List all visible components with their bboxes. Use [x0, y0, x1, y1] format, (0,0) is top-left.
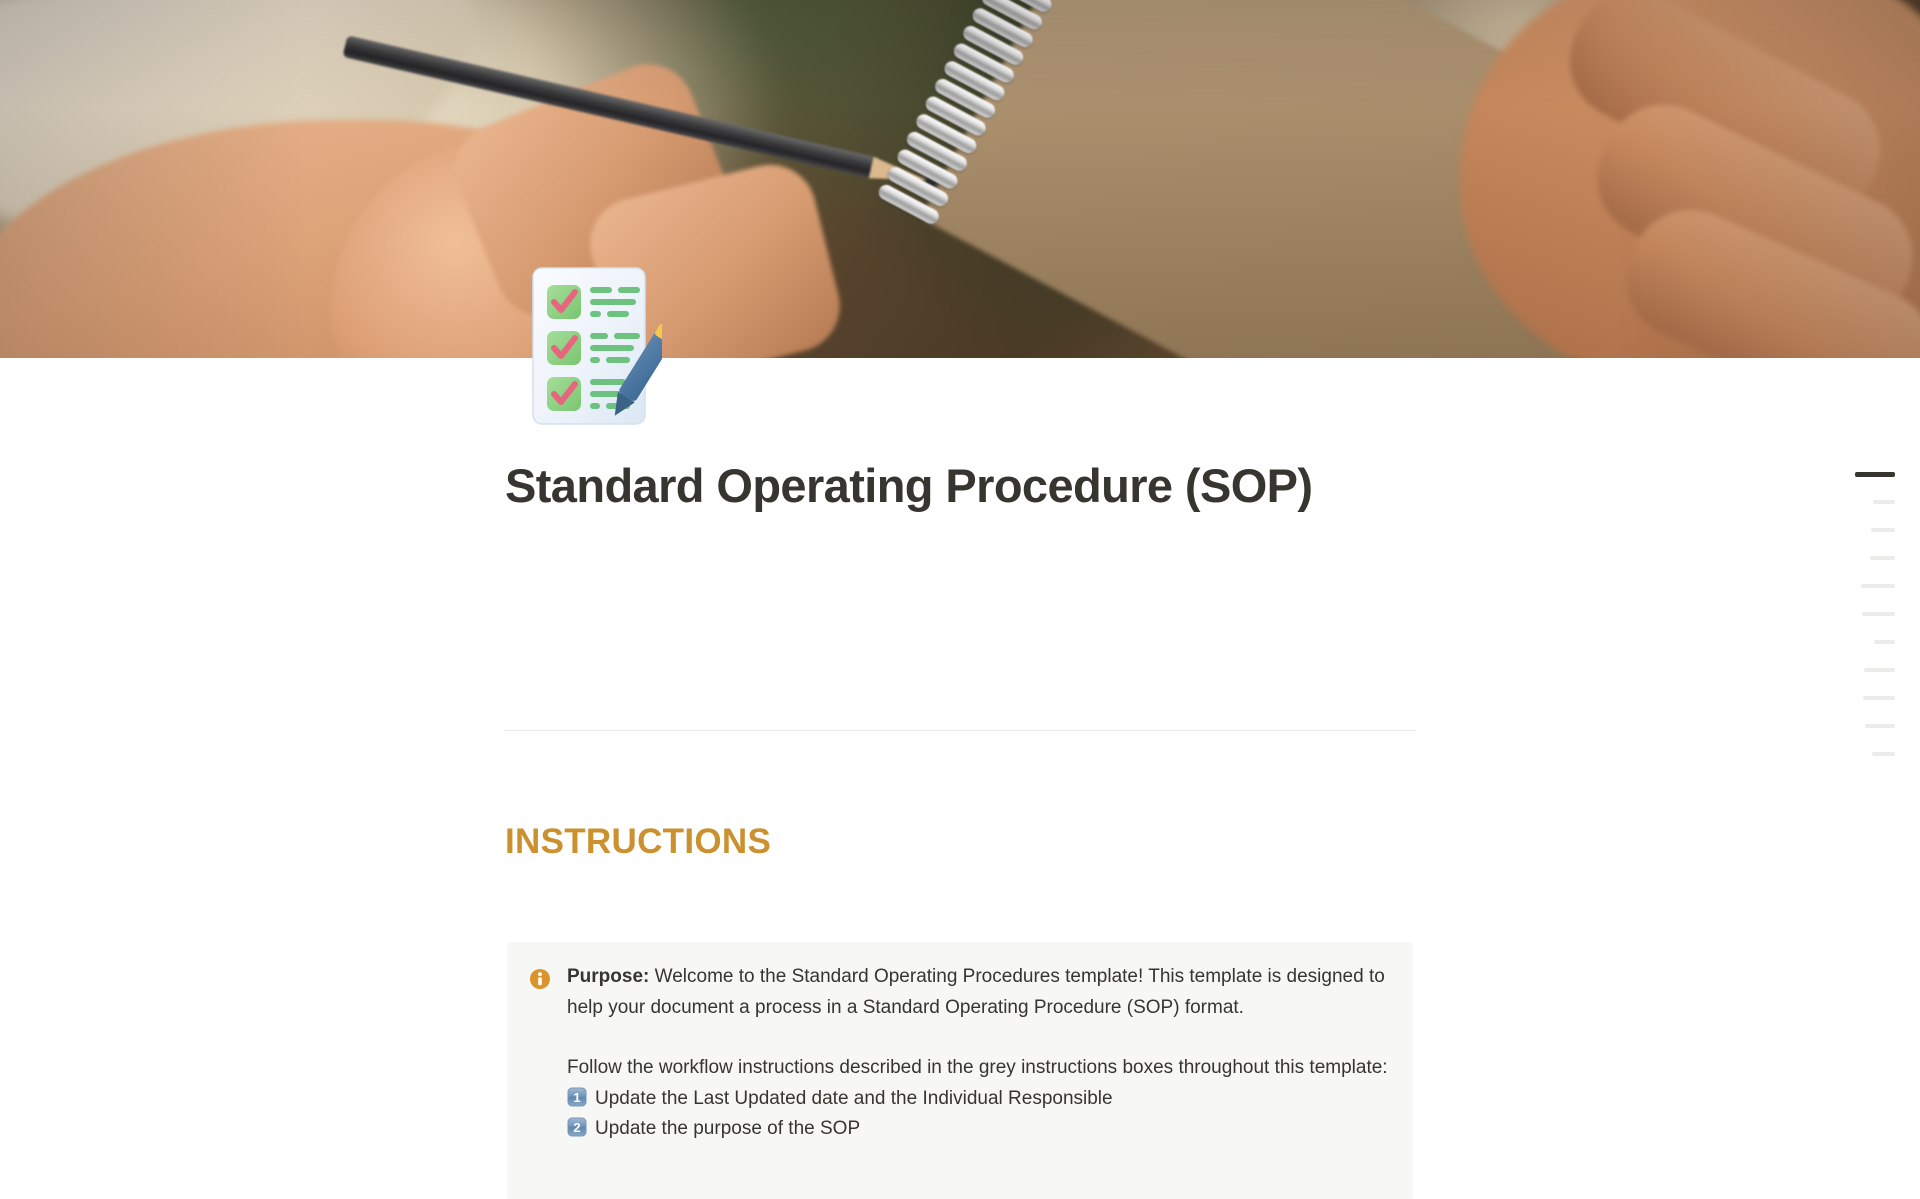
- callout-body: Purpose: Welcome to the Standard Operati…: [567, 962, 1391, 1145]
- toc-minimap-dash: [1864, 668, 1895, 672]
- table-of-contents-minimap[interactable]: [1845, 460, 1895, 768]
- svg-text:1: 1: [573, 1090, 580, 1105]
- toc-minimap-dash: [1874, 640, 1895, 644]
- toc-minimap-dash: [1871, 528, 1895, 532]
- toc-minimap-item[interactable]: [1845, 740, 1895, 768]
- document-page: Standard Operating Procedure (SOP) INSTR…: [0, 0, 1920, 1199]
- list-item: 1 Update the Last Updated date and the I…: [567, 1084, 1391, 1115]
- list-item-text: Update the purpose of the SOP: [595, 1114, 860, 1145]
- toc-minimap-item[interactable]: [1845, 544, 1895, 572]
- purpose-label: Purpose:: [567, 966, 649, 987]
- clipboard-checklist-pencil-icon[interactable]: [530, 265, 662, 427]
- toc-minimap-item[interactable]: [1845, 600, 1895, 628]
- cover-photo[interactable]: [0, 0, 1920, 358]
- purpose-text: Welcome to the Standard Operating Proced…: [567, 966, 1385, 1018]
- svg-text:2: 2: [573, 1120, 580, 1135]
- toc-minimap-dash: [1861, 584, 1895, 588]
- purpose-paragraph: Purpose: Welcome to the Standard Operati…: [567, 962, 1391, 1023]
- toc-minimap-dash: [1855, 472, 1895, 477]
- cover-photo-scene: [0, 0, 1920, 358]
- toc-minimap-item[interactable]: [1845, 656, 1895, 684]
- toc-minimap-item[interactable]: [1845, 712, 1895, 740]
- toc-minimap-dash: [1865, 724, 1895, 728]
- toc-minimap-dash: [1872, 752, 1895, 756]
- keycap-one-icon: 1: [567, 1087, 587, 1107]
- keycap-two-icon: 2: [567, 1117, 587, 1137]
- toc-minimap-item[interactable]: [1845, 460, 1895, 488]
- toc-minimap-item[interactable]: [1845, 684, 1895, 712]
- paragraph-gap: [567, 1023, 1391, 1053]
- toc-minimap-dash: [1870, 556, 1895, 560]
- toc-minimap-dash: [1873, 500, 1895, 504]
- toc-minimap-dash: [1863, 696, 1895, 700]
- info-circle-icon: [529, 968, 551, 990]
- toc-minimap-item[interactable]: [1845, 572, 1895, 600]
- list-item-text: Update the Last Updated date and the Ind…: [595, 1084, 1113, 1115]
- follow-instructions-paragraph: Follow the workflow instructions describ…: [567, 1053, 1391, 1084]
- toc-minimap-item[interactable]: [1845, 628, 1895, 656]
- list-item: 2 Update the purpose of the SOP: [567, 1114, 1391, 1145]
- cover-vignette: [0, 0, 1920, 358]
- toc-minimap-item[interactable]: [1845, 516, 1895, 544]
- section-divider: [505, 730, 1415, 731]
- toc-minimap-dash: [1862, 612, 1895, 616]
- page-title[interactable]: Standard Operating Procedure (SOP): [505, 455, 1425, 517]
- instructions-heading[interactable]: INSTRUCTIONS: [505, 820, 771, 864]
- toc-minimap-item[interactable]: [1845, 488, 1895, 516]
- purpose-callout[interactable]: Purpose: Welcome to the Standard Operati…: [507, 942, 1413, 1199]
